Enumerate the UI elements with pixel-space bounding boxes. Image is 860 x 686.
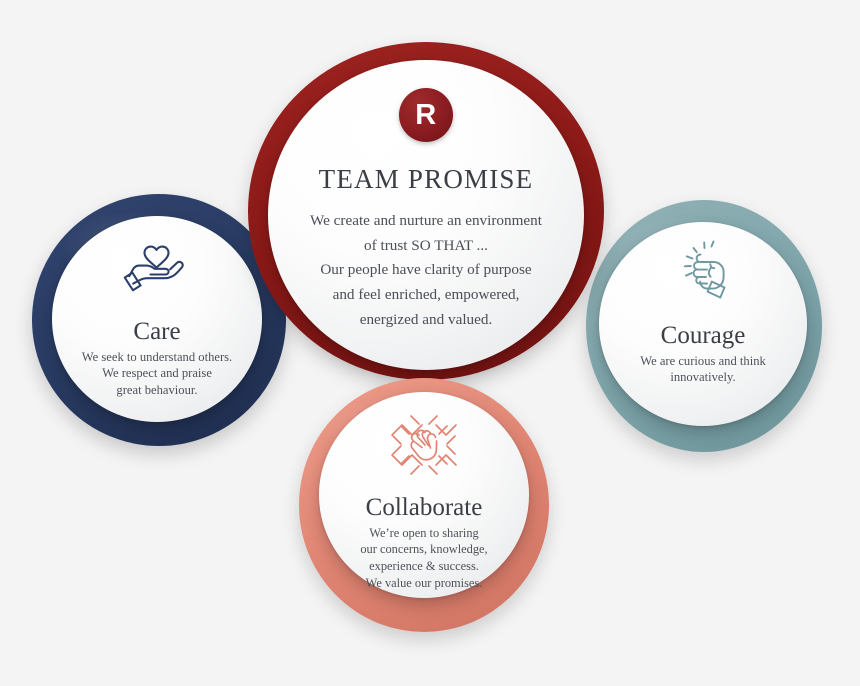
heart-in-hand-icon	[120, 238, 194, 300]
collaborate-body-line: We value our promises.	[360, 575, 487, 592]
care-body-line: We seek to understand others.	[82, 349, 232, 366]
team-promise-diagram: Care We seek to understand others. We re…	[0, 0, 860, 686]
courage-body-line: We are curious and think	[640, 353, 766, 370]
page-title: TEAM PROMISE	[319, 164, 534, 195]
collaborate-body-line: experience & success.	[360, 558, 487, 575]
courage-card[interactable]: Courage We are curious and think innovat…	[599, 222, 807, 426]
collaborate-body-line: our concerns, knowledge,	[360, 541, 487, 558]
collaborate-card[interactable]: Collaborate We’re open to sharing our co…	[319, 392, 529, 598]
collaborate-title: Collaborate	[366, 494, 483, 522]
team-promise-body: We create and nurture an environment of …	[281, 209, 571, 332]
team-promise-body-line: Our people have clarity of purpose	[281, 258, 571, 283]
care-title: Care	[133, 318, 180, 346]
four-hands-together-icon	[389, 414, 459, 476]
care-body: We seek to understand others. We respect…	[82, 349, 232, 399]
collaborate-body: We’re open to sharing our concerns, know…	[360, 525, 487, 592]
care-body-line: We respect and praise	[82, 365, 232, 382]
courage-body: We are curious and think innovatively.	[640, 353, 766, 386]
raised-fist-icon	[667, 240, 739, 302]
collaborate-body-line: We’re open to sharing	[360, 525, 487, 542]
team-promise-body-line: of trust SO THAT ...	[281, 234, 571, 259]
team-promise-body-line: We create and nurture an environment	[281, 209, 571, 234]
care-body-line: great behaviour.	[82, 382, 232, 399]
courage-title: Courage	[661, 322, 746, 350]
care-card[interactable]: Care We seek to understand others. We re…	[52, 216, 262, 422]
team-promise-body-line: and feel enriched, empowered,	[281, 283, 571, 308]
team-promise-body-line: energized and valued.	[281, 308, 571, 333]
courage-body-line: innovatively.	[640, 369, 766, 386]
brand-badge-r: R	[399, 88, 453, 142]
